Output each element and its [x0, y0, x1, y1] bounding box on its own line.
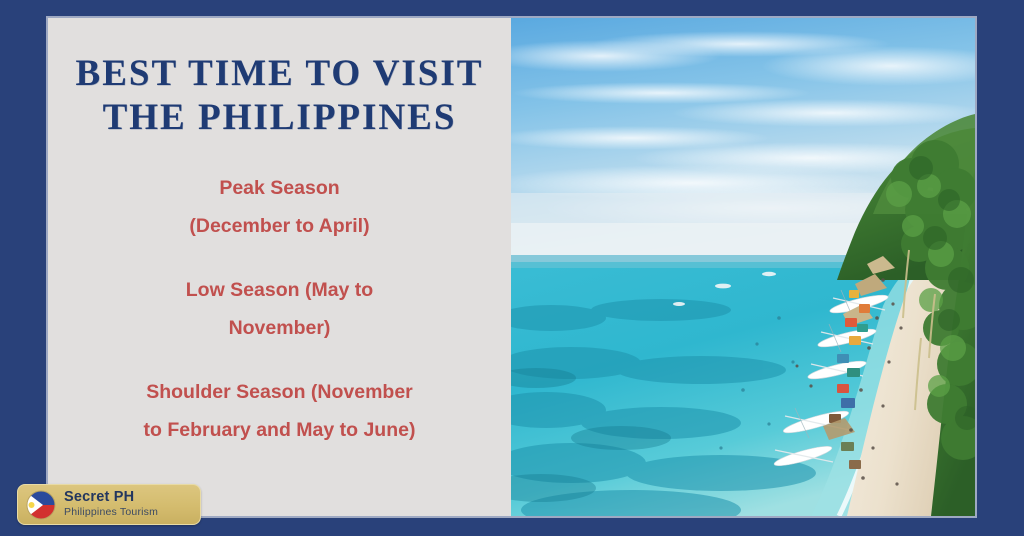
- season-item-shoulder: Shoulder Season (November to February an…: [110, 373, 449, 449]
- brand-tagline: Philippines Tourism: [64, 507, 158, 519]
- brand-badge-text: Secret PH Philippines Tourism: [64, 490, 158, 518]
- beach-photo-illustration: [511, 18, 975, 516]
- season-list: Peak Season (December to April) Low Seas…: [48, 139, 511, 449]
- season-shoulder-line-1: Shoulder Season (November: [110, 373, 449, 411]
- season-peak-line-2: (December to April): [110, 207, 449, 245]
- brand-badge[interactable]: Secret PH Philippines Tourism: [17, 484, 201, 525]
- page-title: Best Time to Visit the Philippines: [48, 18, 511, 139]
- season-item-low: Low Season (May to November): [110, 271, 449, 347]
- season-low-line-2: November): [110, 309, 449, 347]
- title-line-1: Best Time to Visit: [76, 53, 484, 94]
- brand-name: Secret PH: [64, 490, 158, 506]
- text-column: Best Time to Visit the Philippines Peak …: [48, 18, 511, 516]
- title-line-2: the Philippines: [68, 96, 491, 140]
- philippine-flag-roundel-icon: [26, 490, 56, 520]
- season-peak-line-1: Peak Season: [110, 169, 449, 207]
- season-low-line-1: Low Season (May to: [110, 271, 449, 309]
- poster: Best Time to Visit the Philippines Peak …: [0, 0, 1024, 536]
- poster-card: Best Time to Visit the Philippines Peak …: [48, 18, 975, 516]
- beach-photo: [511, 18, 975, 516]
- season-shoulder-line-2: to February and May to June): [110, 411, 449, 449]
- season-item-peak: Peak Season (December to April): [110, 169, 449, 245]
